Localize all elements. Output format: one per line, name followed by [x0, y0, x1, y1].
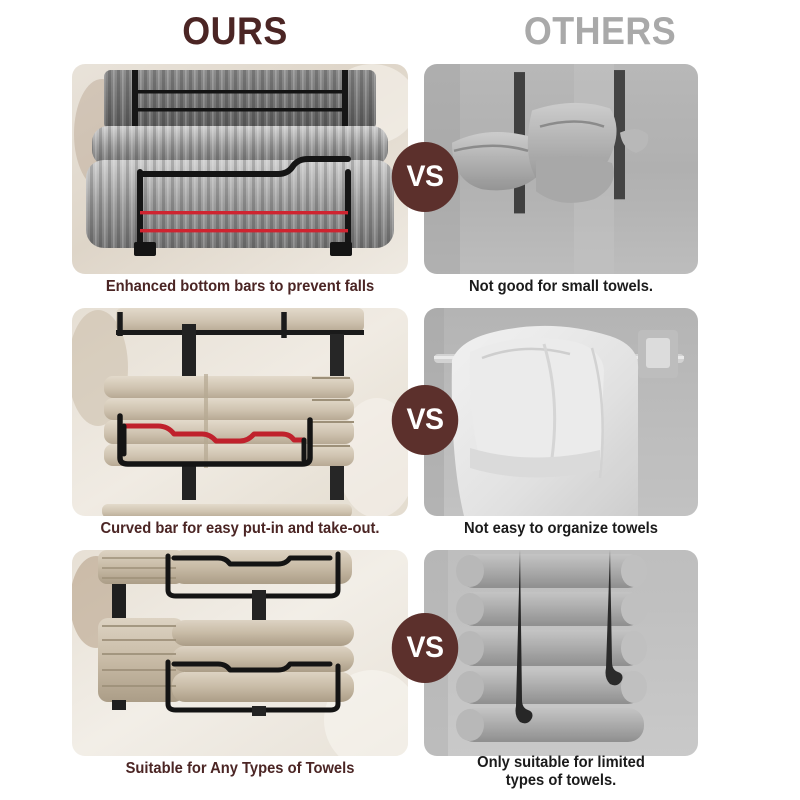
- caption-others-2: Not easy to organize towels: [431, 520, 691, 538]
- panel-others-2: [424, 308, 698, 516]
- panel-ours-1: [72, 64, 408, 274]
- caption-ours-3: Suitable for Any Types of Towels: [80, 760, 399, 778]
- caption-ours-2: Curved bar for easy put-in and take-out.: [69, 520, 411, 538]
- illustration-limited-towel-types: [424, 550, 698, 756]
- illustration-curved-bar: [72, 308, 408, 516]
- heading-others: OTHERS: [416, 10, 784, 54]
- vs-badge-3: VS: [392, 613, 459, 683]
- comparison-row-3: VS Suitable for Any Types of Towels Only…: [0, 548, 800, 800]
- caption-others-3: Only suitable for limited types of towel…: [431, 754, 691, 790]
- panel-ours-3: [72, 550, 408, 756]
- comparison-row-1: VS Enhanced bottom bars to prevent falls…: [0, 62, 800, 308]
- vs-badge-2: VS: [392, 385, 459, 455]
- panel-ours-2: [72, 308, 408, 516]
- comparison-infographic: OURS OTHERS: [0, 0, 800, 800]
- illustration-any-towel-types: [72, 550, 408, 756]
- illustration-towel-on-chrome-bar: [424, 308, 698, 516]
- headings-row: OURS OTHERS: [0, 0, 800, 62]
- panel-others-1: [424, 64, 698, 274]
- comparison-row-2: VS Curved bar for easy put-in and take-o…: [0, 308, 800, 548]
- caption-ours-1: Enhanced bottom bars to prevent falls: [80, 278, 399, 296]
- heading-ours: OURS: [19, 10, 451, 54]
- panel-others-3: [424, 550, 698, 756]
- illustration-small-towels-fall-through: [424, 64, 698, 274]
- caption-others-3-line2: types of towels.: [431, 772, 691, 790]
- vs-badge-1: VS: [392, 142, 459, 212]
- caption-others-1: Not good for small towels.: [431, 278, 691, 296]
- caption-others-3-line1: Only suitable for limited: [431, 754, 691, 772]
- illustration-enhanced-bottom-bars: [72, 64, 408, 274]
